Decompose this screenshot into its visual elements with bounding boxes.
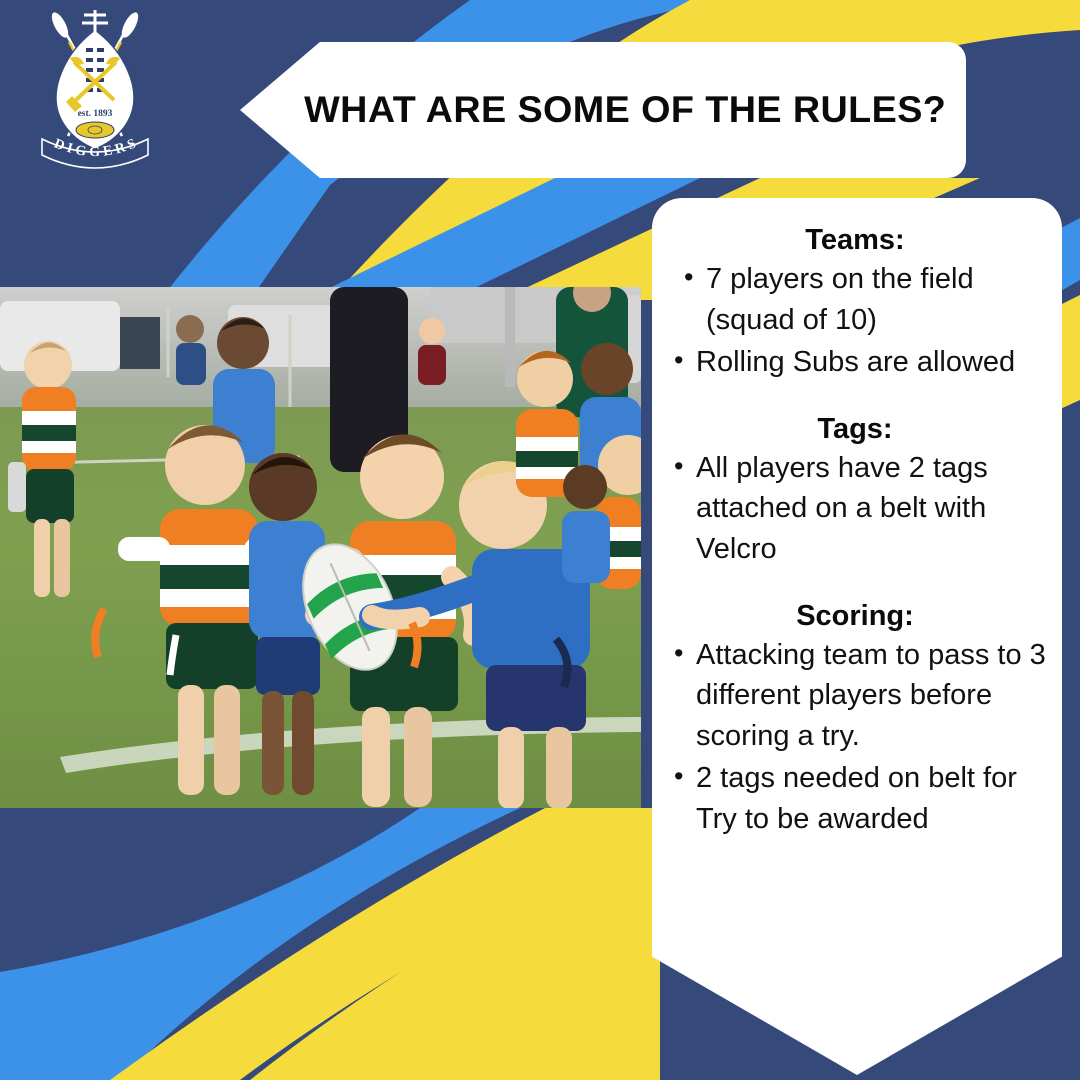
- rules-card: Teams: 7 players on the field (squad of …: [652, 198, 1062, 1075]
- bullet-list-tags: All players have 2 tags attached on a be…: [662, 448, 1048, 570]
- established-year: est. 1893: [78, 109, 113, 119]
- page-title: WHAT ARE SOME OF THE RULES?: [245, 86, 961, 133]
- section-heading-teams: Teams:: [662, 224, 1048, 257]
- infographic-canvas: est. 1893 DIGGERS WHAT ARE SOME OF THE R…: [0, 0, 1080, 1080]
- list-item: 2 tags needed on belt for Try to be awar…: [662, 758, 1048, 839]
- section-heading-scoring: Scoring:: [662, 600, 1048, 633]
- list-item: 7 players on the field (squad of 10): [662, 259, 1048, 340]
- rules-section-tags: Tags: All players have 2 tags attached o…: [662, 413, 1048, 570]
- list-item: All players have 2 tags attached on a be…: [662, 448, 1048, 570]
- list-item: Attacking team to pass to 3 different pl…: [662, 635, 1048, 757]
- list-item: Rolling Subs are allowed: [662, 342, 1048, 383]
- title-banner: WHAT ARE SOME OF THE RULES?: [240, 42, 966, 178]
- rules-content: Teams: 7 players on the field (squad of …: [652, 198, 1062, 840]
- rugby-photo: [0, 287, 641, 808]
- club-logo: est. 1893 DIGGERS: [36, 8, 154, 173]
- mini-ball-icon: [76, 122, 114, 138]
- player-right-small-blue: [562, 465, 610, 583]
- section-heading-tags: Tags:: [662, 413, 1048, 446]
- rules-section-scoring: Scoring: Attacking team to pass to 3 dif…: [662, 600, 1048, 840]
- crest-top-bars-icon: [82, 10, 108, 34]
- bullet-list-teams: 7 players on the field (squad of 10) Rol…: [662, 259, 1048, 383]
- rules-section-teams: Teams: 7 players on the field (squad of …: [662, 224, 1048, 383]
- bullet-list-scoring: Attacking team to pass to 3 different pl…: [662, 635, 1048, 840]
